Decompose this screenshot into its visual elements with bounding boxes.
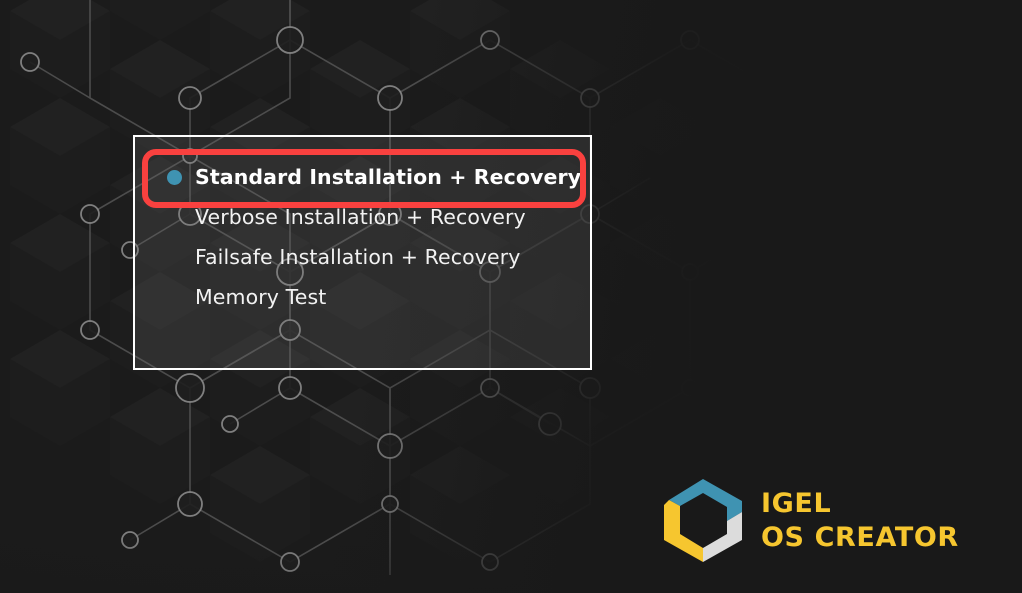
boot-menu-item-label: Standard Installation + Recovery xyxy=(195,167,581,188)
boot-menu-item-failsafe-installation[interactable]: Failsafe Installation + Recovery xyxy=(135,237,590,277)
boot-menu-item-memory-test[interactable]: Memory Test xyxy=(135,277,590,317)
boot-menu-item-label: Memory Test xyxy=(195,287,326,308)
igel-hexagon-logo-icon xyxy=(663,478,743,564)
selected-bullet-slot xyxy=(167,170,195,185)
brand-line-os-creator: OS CREATOR xyxy=(761,522,959,554)
boot-menu-panel: Standard Installation + Recovery Verbose… xyxy=(133,135,592,370)
boot-screen: Standard Installation + Recovery Verbose… xyxy=(0,0,1022,593)
boot-menu-item-label: Verbose Installation + Recovery xyxy=(195,207,526,228)
boot-menu-item-label: Failsafe Installation + Recovery xyxy=(195,247,520,268)
boot-menu-item-verbose-installation[interactable]: Verbose Installation + Recovery xyxy=(135,197,590,237)
brand-lockup: IGEL OS CREATOR xyxy=(663,478,959,564)
brand-text: IGEL OS CREATOR xyxy=(761,488,959,554)
boot-menu-list: Standard Installation + Recovery Verbose… xyxy=(135,137,590,368)
selection-bullet-icon xyxy=(167,170,182,185)
brand-line-igel: IGEL xyxy=(761,488,959,520)
boot-menu-item-standard-installation[interactable]: Standard Installation + Recovery xyxy=(135,157,590,197)
